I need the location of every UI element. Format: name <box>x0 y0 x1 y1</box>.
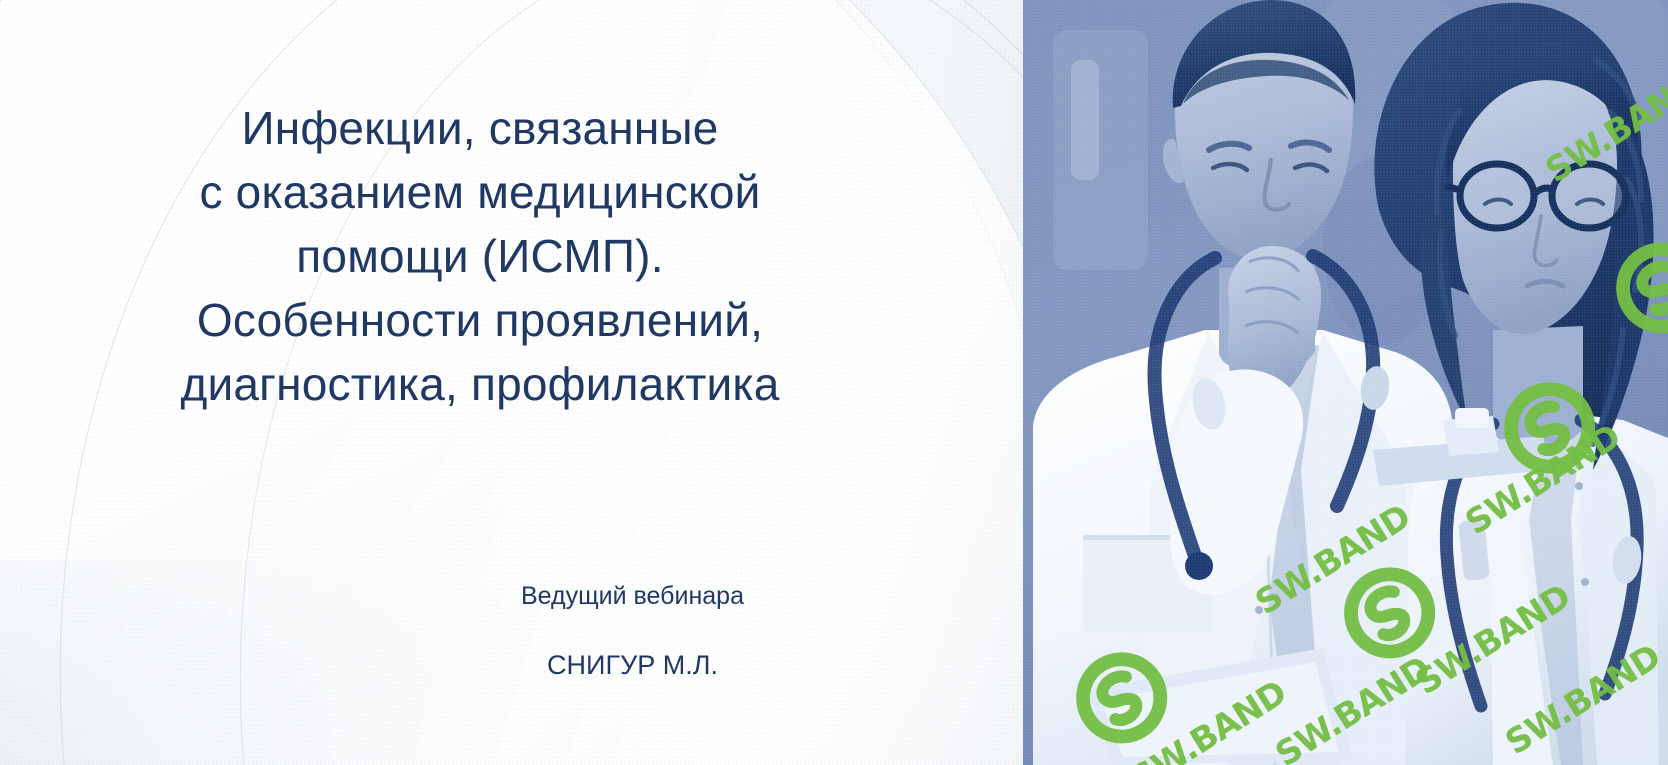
doctors-photo <box>1023 0 1668 765</box>
title-line-3: помощи (ИСМП). <box>60 224 900 288</box>
title-line-4: Особенности проявлений, <box>60 288 900 352</box>
title-slide: Инфекции, связанные с оказанием медицинс… <box>0 0 1668 765</box>
title-line-2: с оказанием медицинской <box>60 160 900 224</box>
page-title: Инфекции, связанные с оказанием медицинс… <box>60 96 900 416</box>
title-line-5: диагностика, профилактика <box>60 352 900 416</box>
presenter-block: Ведущий вебинара СНИГУР М.Л. <box>360 580 905 682</box>
presenter-role-label: Ведущий вебинара <box>360 580 905 612</box>
doctors-photo-illustration <box>1023 0 1668 765</box>
title-line-1: Инфекции, связанные <box>60 96 900 160</box>
presenter-name: СНИГУР М.Л. <box>360 648 905 682</box>
